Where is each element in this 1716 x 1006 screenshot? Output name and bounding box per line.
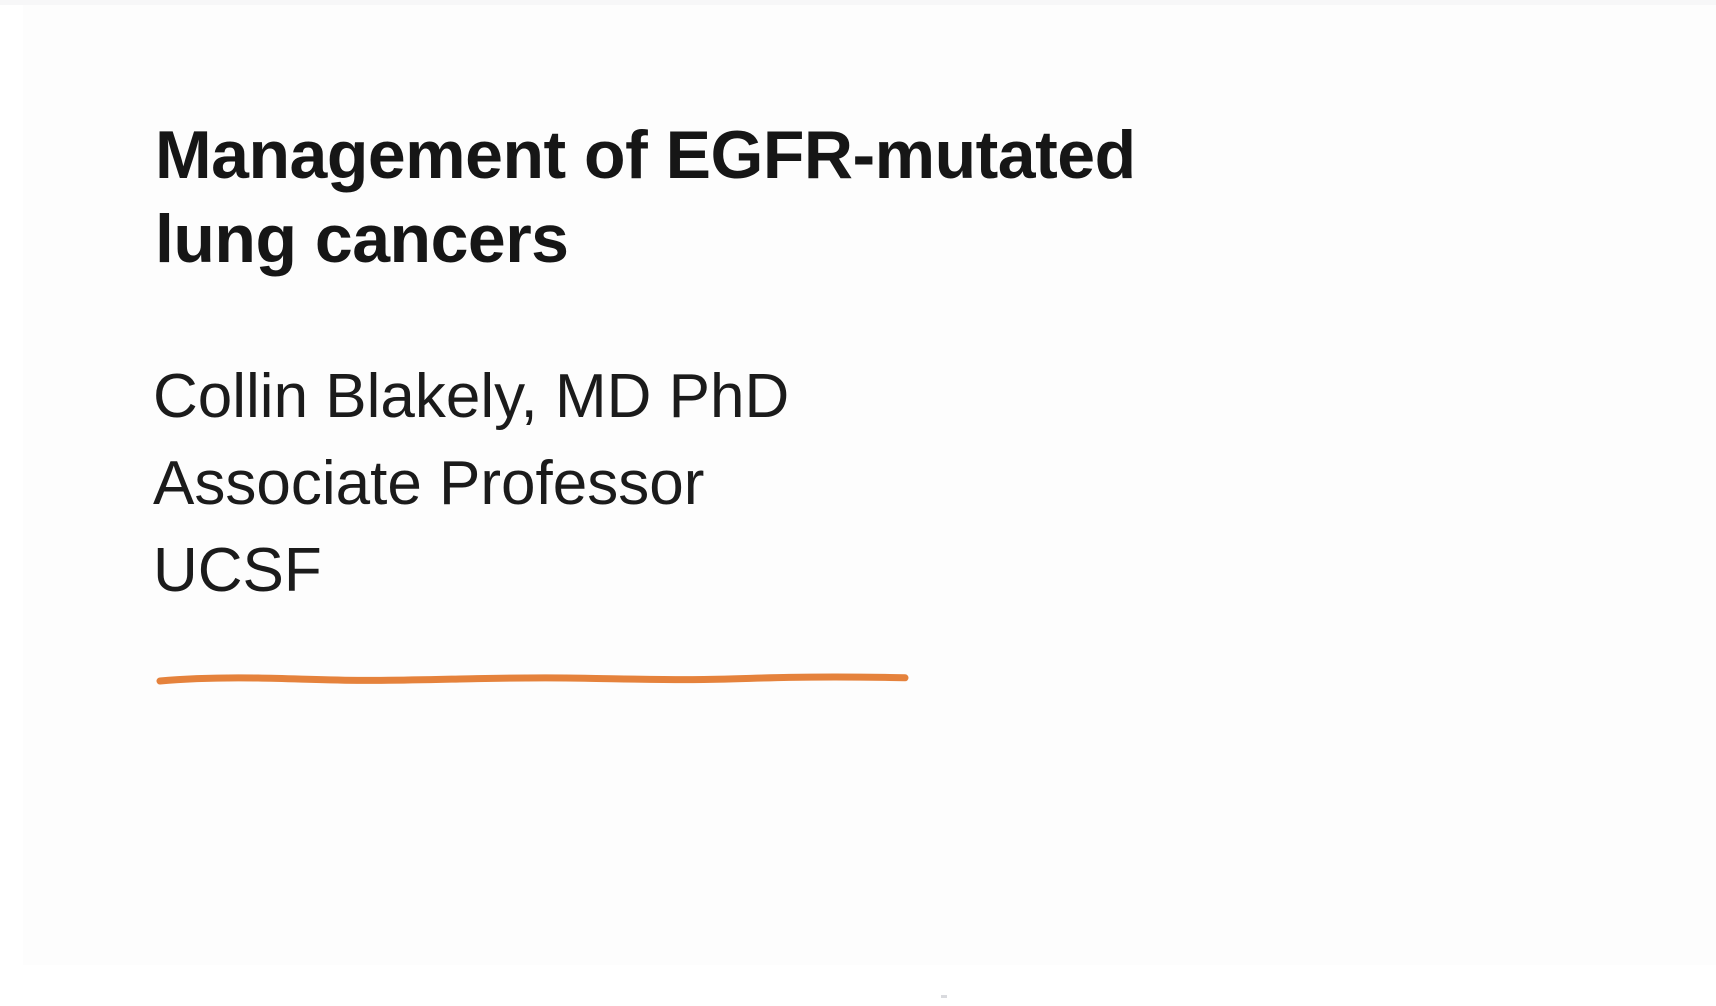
capture-artifact-speck (941, 995, 947, 998)
slide-title: Management of EGFR-mutated lung cancers (155, 113, 1255, 281)
slide-subtitle-block: Collin Blakely, MD PhD Associate Profess… (153, 353, 1153, 614)
presenter-institution-line: UCSF (153, 527, 1153, 614)
hand-drawn-line-icon (153, 657, 913, 697)
presenter-title-line: Associate Professor (153, 440, 1153, 527)
slide-canvas: Management of EGFR-mutated lung cancers … (23, 5, 1716, 965)
presenter-name-line: Collin Blakely, MD PhD (153, 353, 1153, 440)
orange-underline-rule (153, 657, 913, 697)
presentation-viewer: Management of EGFR-mutated lung cancers … (0, 0, 1716, 1006)
